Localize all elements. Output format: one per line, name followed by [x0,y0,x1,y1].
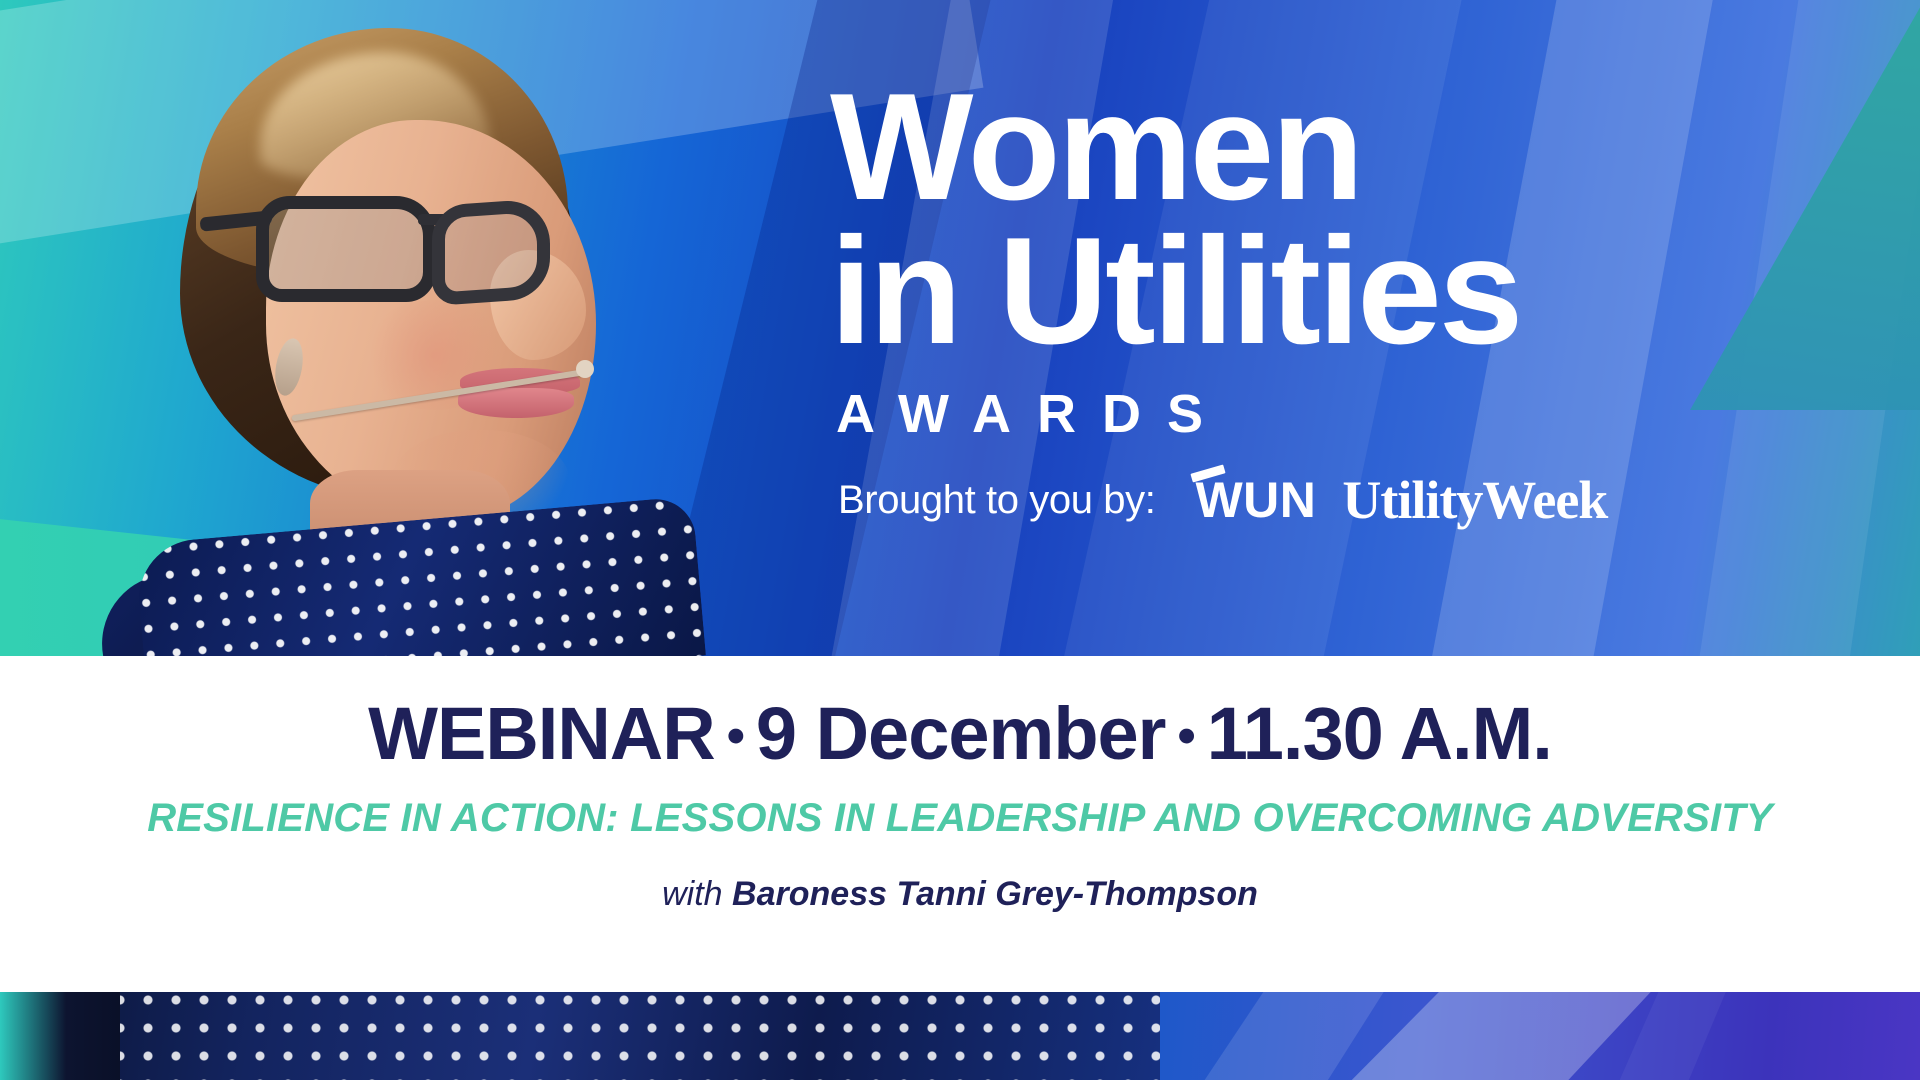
speaker-portrait [60,0,720,656]
strip-photo-region [0,992,1160,1080]
event-time: 11.30 A.M. [1207,692,1552,775]
speaker-with-label: with [662,875,722,913]
strip-left-edge [0,992,120,1080]
strip-chevron-2 [1330,992,1660,1080]
wun-logo: WUN [1181,471,1316,529]
utility-week-logo: UtilityWeek [1342,469,1607,531]
wun-logo-text: WUN [1195,472,1316,528]
speaker-line: with Baroness Tanni Grey-Thompson [0,875,1920,914]
headline-separator-2: • [1165,708,1206,764]
speaker-name: Baroness Tanni Grey-Thompson [732,875,1258,913]
headline-separator-1: • [715,708,756,764]
event-topic: RESILIENCE IN ACTION: LESSONS IN LEADERS… [0,796,1920,841]
logo-line-utilities: in Utilities [830,215,1850,367]
glasses-left-lens [432,198,550,306]
logo-line-awards: AWARDS [836,383,1850,445]
event-type-label: WEBINAR [368,692,715,775]
brought-by-label: Brought to you by: [838,478,1155,523]
logo-line-women: Women [830,74,1850,221]
glasses-right-lens [256,196,436,302]
awards-logo-lockup: Women in Utilities AWARDS Brought to you… [830,74,1850,531]
brought-to-you-by-row: Brought to you by: WUN UtilityWeek [838,469,1850,531]
hero-section: Women in Utilities AWARDS Brought to you… [0,0,1920,656]
event-date: 9 December [756,692,1166,775]
polka-dot-top [134,496,706,656]
bottom-banner-strip [0,992,1920,1080]
event-headline: WEBINAR•9 December•11.30 A.M. [0,694,1920,774]
lower-lip [458,388,574,418]
event-info-panel: WEBINAR•9 December•11.30 A.M. RESILIENCE… [0,656,1920,992]
promo-banner: Women in Utilities AWARDS Brought to you… [0,0,1920,1080]
headset-mic-tip [576,360,594,378]
strip-chevron-1 [1190,992,1390,1080]
